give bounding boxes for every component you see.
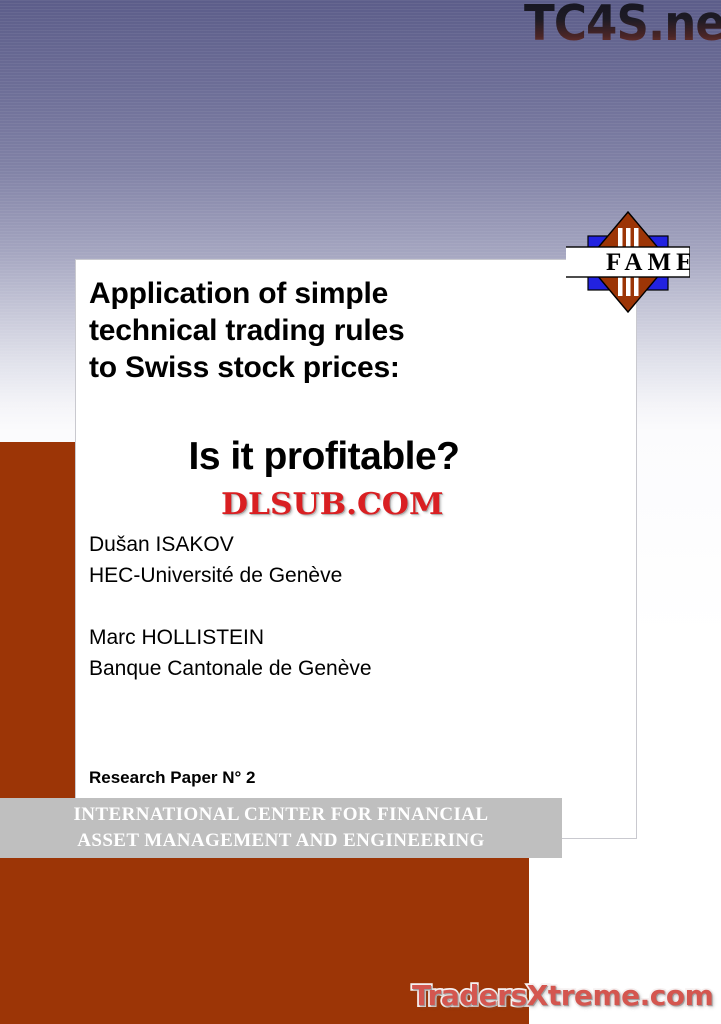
title-line-2: technical trading rules [89,314,404,347]
author-list: Dušan ISAKOV HEC-Université de Genève Ma… [89,529,559,684]
author-2-affiliation: Banque Cantonale de Genève [89,657,372,680]
research-paper-number: Research Paper N° 2 [89,768,256,788]
institution-line-1: INTERNATIONAL CENTER FOR FINANCIAL [74,802,489,828]
title-line-1: Application of simple [89,277,388,310]
fame-logo: FAME [566,206,690,318]
dlsub-watermark: DLSUB.COM [221,487,444,522]
institution-line-2: ASSET MANAGEMENT AND ENGINEERING [77,828,484,854]
document-cover: TC4S.net FAME Application of simple tech… [0,0,721,1024]
page-title: Application of simple technical trading … [89,275,559,386]
institution-banner-text: INTERNATIONAL CENTER FOR FINANCIAL ASSET… [0,798,562,858]
page-subtitle: Is it profitable? [89,434,559,480]
author-2-name: Marc HOLLISTEIN [89,626,264,649]
title-line-3: to Swiss stock prices: [89,351,400,384]
brown-left-block [0,442,76,858]
tc4s-watermark: TC4S.net [524,0,721,52]
logo-text: FAME [606,249,690,276]
author-spacer [89,591,559,622]
author-1-name: Dušan ISAKOV [89,533,234,556]
author-1-affiliation: HEC-Université de Genève [89,564,342,587]
tradersxtreme-watermark: TradersXtreme.com [412,979,713,1012]
